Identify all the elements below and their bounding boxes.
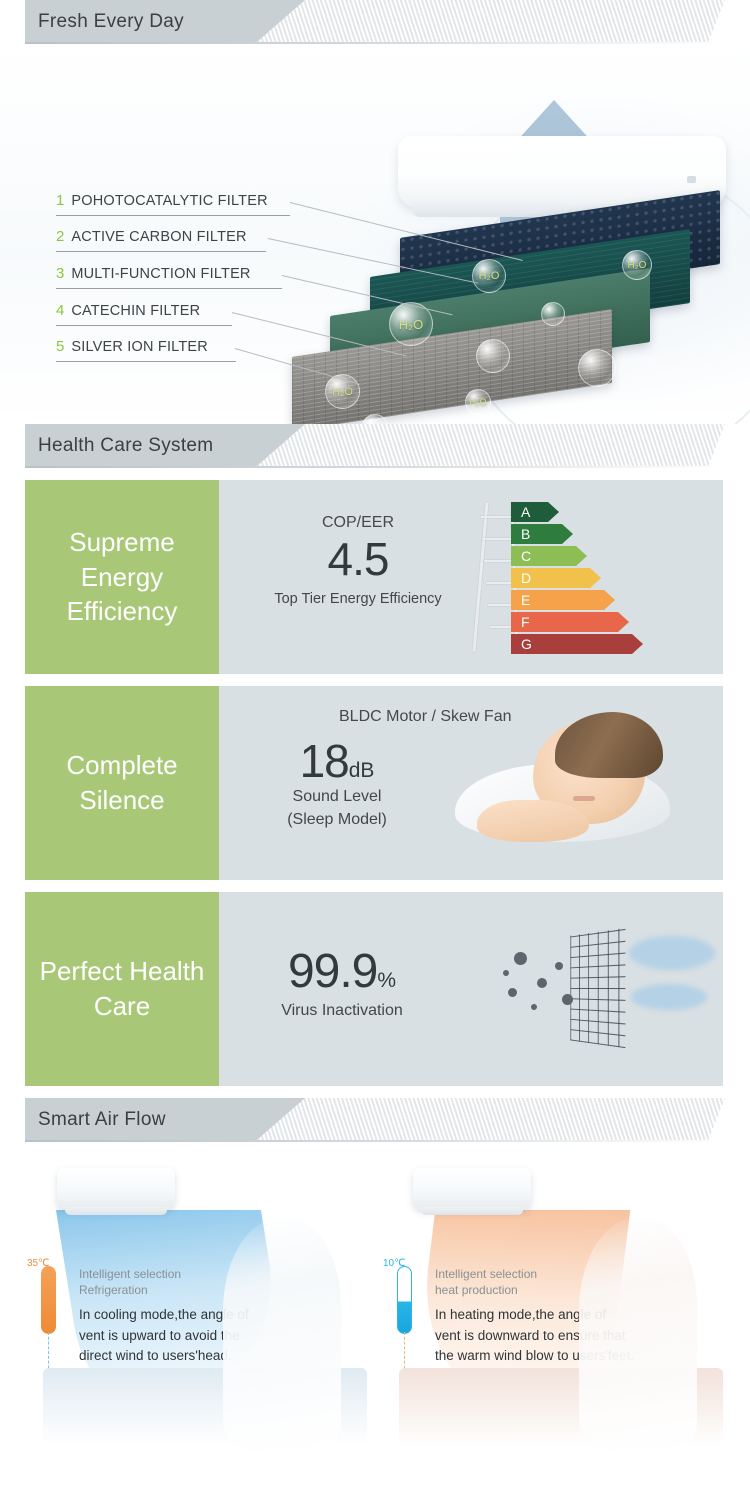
water-bubble [541,302,565,326]
clean-air-cloud [629,936,715,970]
filter-item-underline [56,288,282,289]
airflow-scenes: 35℃ Intelligent selection Refrigeration … [0,1142,750,1454]
germ-icon [562,994,573,1005]
energy-metric-block: COP/EER 4.5 Top Tier Energy Efficiency [263,514,453,610]
filter-item-4: 4CATECHIN FILTER [56,302,200,324]
filter-item-label: ACTIVE CARBON FILTER [71,229,246,245]
banner-health-care-system: Health Care System [0,424,750,468]
thermometer-cool-icon [41,1266,56,1334]
air-conditioner-unit [413,1168,531,1210]
energy-band-c: C [511,546,587,566]
air-conditioner-unit [57,1168,175,1210]
filter-diagram-section: H₂O H₂O H₂O H₂O H₂O H₂O 1POHOTOCATALYTIC… [0,44,750,424]
virus-metric-block: 99.9% Virus Inactivation [237,948,447,1022]
energy-band-g: G [511,634,643,654]
water-bubble: H₂O [465,389,491,415]
banner-title-health: Health Care System [38,424,213,468]
scene-heating: 10℃ Intelligent selection heat productio… [381,1154,723,1454]
card-complete-silence: Complete Silence BLDC Motor / Skew Fan 1… [25,686,723,880]
metric-value: 18 [300,735,349,787]
sleeping-child-illustration [469,714,669,844]
filter-item-number: 3 [56,265,64,282]
filter-item-2: 2ACTIVE CARBON FILTER [56,228,247,250]
banner-title-airflow: Smart Air Flow [38,1098,166,1142]
germ-icon [555,962,563,970]
metric-top-label: COP/EER [263,514,453,532]
card-content-panel: 99.9% Virus Inactivation [219,892,723,1086]
germ-icon [503,970,509,976]
sound-metric-block: 18dB Sound Level (Sleep Model) [247,738,427,831]
energy-band-d: D [511,568,601,588]
thermometer-badge-heat: 10℃ [383,1258,405,1269]
energy-band-e: E [511,590,615,610]
thermometer-heat-icon [397,1266,412,1334]
water-bubble: H₂O [472,259,506,293]
scene-cooling: 35℃ Intelligent selection Refrigeration … [25,1154,367,1454]
germ-icon [514,952,527,965]
water-bubble [578,349,616,387]
banner-smart-air-flow: Smart Air Flow [0,1098,750,1142]
metric-sub-label: Top Tier Energy Efficiency [263,589,453,610]
card-content-panel: COP/EER 4.5 Top Tier Energy Efficiency A… [219,480,723,674]
metric-unit: dB [349,759,375,782]
metric-sub-line-2: (Sleep Model) [247,808,427,831]
energy-band-a: A [511,502,559,522]
banner-title-fresh: Fresh Every Day [38,0,184,44]
card-content-panel: BLDC Motor / Skew Fan 18dB Sound Level (… [219,686,723,880]
filter-item-label: CATECHIN FILTER [71,303,200,319]
child-arm [477,800,589,842]
filter-item-number: 2 [56,228,64,245]
thermometer-badge-cool: 35℃ [27,1258,49,1269]
metric-value: 4.5 [263,536,453,583]
child-hair [555,712,663,778]
filter-item-underline [56,251,266,252]
filter-item-number: 4 [56,302,64,319]
filter-item-underline [56,325,232,326]
filter-item-label: MULTI-FUNCTION FILTER [71,266,250,282]
clean-air-cloud [631,984,707,1010]
health-cards-list: Supreme Energy Efficiency COP/EER 4.5 To… [0,468,750,1086]
metric-sub-label: Virus Inactivation [237,999,447,1022]
person-illustration [579,1218,697,1450]
germ-icon [531,1004,537,1010]
water-bubble [476,339,510,373]
germ-icon [508,988,517,997]
filter-item-number: 1 [56,192,64,209]
filter-item-label: SILVER ION FILTER [71,339,208,355]
metric-value-row: 99.9% [237,948,447,997]
energy-band-b: B [511,524,573,544]
filter-item-number: 5 [56,338,64,355]
filter-item-5: 5SILVER ION FILTER [56,338,208,360]
card-title-panel: Complete Silence [25,686,219,880]
germ-icon [537,978,547,988]
person-illustration [223,1218,341,1450]
card-title-panel: Perfect Health Care [25,892,219,1086]
card-title-panel: Supreme Energy Efficiency [25,480,219,674]
filter-item-underline [56,215,290,216]
banner-fresh-every-day: Fresh Every Day [0,0,750,44]
filter-mesh-icon [570,928,625,1048]
filter-item-underline [56,361,236,362]
metric-unit: % [377,969,396,992]
ac-indicator-icon [687,176,696,183]
metric-sub-line-1: Sound Level [247,785,427,808]
filter-item-3: 3MULTI-FUNCTION FILTER [56,265,251,287]
card-perfect-health-care: Perfect Health Care 99.9% Virus Inactiva… [25,892,723,1086]
metric-value-row: 18dB [247,738,427,785]
energy-band-f: F [511,612,629,632]
water-bubble: H₂O [622,250,652,280]
card-supreme-energy-efficiency: Supreme Energy Efficiency COP/EER 4.5 To… [25,480,723,674]
child-mouth [573,796,595,801]
metric-value: 99.9 [288,945,377,998]
filter-item-1: 1POHOTOCATALYTIC FILTER [56,192,268,214]
filter-item-label: POHOTOCATALYTIC FILTER [71,193,267,209]
